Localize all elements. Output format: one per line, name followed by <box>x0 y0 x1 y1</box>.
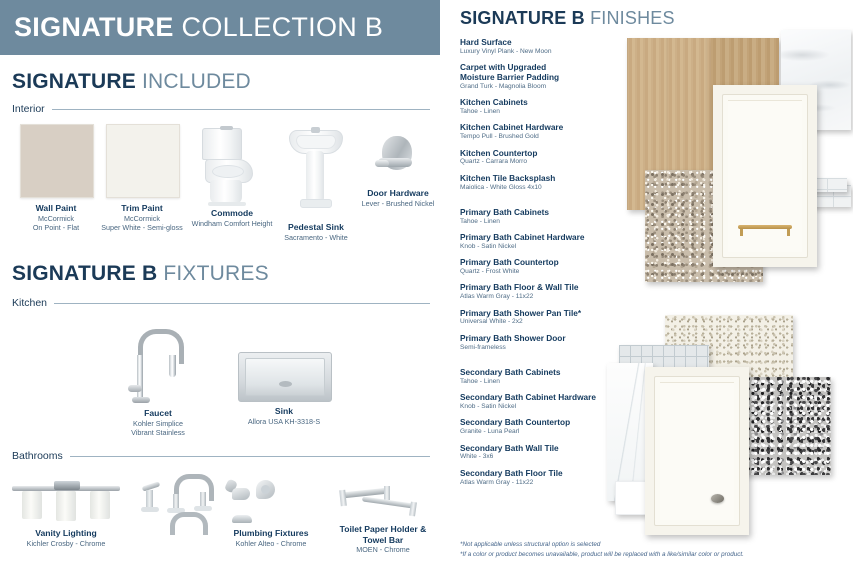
rule-label-bathrooms: Bathrooms <box>12 450 63 462</box>
finish-desc: Knob - Satin Nickel <box>460 243 635 251</box>
fixtures-title-light: FIXTURES <box>163 262 268 285</box>
rule-label-kitchen: Kitchen <box>12 297 47 309</box>
pedestal-sink-image <box>286 130 344 212</box>
rule-interior: Interior <box>12 103 430 115</box>
finish-item: Primary Bath CountertopQuartz - Frost Wh… <box>460 258 635 276</box>
item-name: Faucet <box>110 408 206 419</box>
left-column: SIGNATURE COLLECTION B SIGNATURE INCLUDE… <box>0 0 443 569</box>
section-title-fixtures: SIGNATURE B FIXTURES <box>12 262 269 286</box>
finish-name: Primary Bath Cabinet Hardware <box>460 233 635 243</box>
finish-desc: Grand Turk - Magnolia Bloom <box>460 83 635 91</box>
finish-item: Kitchen CabinetsTahoe - Linen <box>460 98 635 116</box>
item-line1: Lever - Brushed Nickel <box>350 199 446 208</box>
finish-name: Kitchen Cabinet Hardware <box>460 123 635 133</box>
caption-pedestal-sink: Pedestal Sink Sacramento - White <box>268 222 364 242</box>
finish-name: Hard Surface <box>460 38 635 48</box>
included-title-light: INCLUDED <box>142 70 251 93</box>
finish-desc: Atlas Warm Gray - 11x22 <box>460 293 635 301</box>
item-name-2: Towel Bar <box>330 535 436 546</box>
finish-desc: Tahoe - Linen <box>460 108 635 116</box>
caption-towel-bar: Toilet Paper Holder & Towel Bar MOEN - C… <box>330 524 436 554</box>
hero-title-bold: SIGNATURE <box>14 12 174 42</box>
finish-item: Primary Bath Cabinet HardwareKnob - Sati… <box>460 233 635 251</box>
commode-image <box>196 126 266 208</box>
swatch-trim-paint <box>106 124 180 198</box>
caption-faucet: Faucet Kohler Simplice Vibrant Stainless <box>110 408 206 437</box>
caption-plumbing-fixtures: Plumbing Fixtures Kohler Alteo - Chrome <box>216 528 326 548</box>
finish-item: Carpet with UpgradedMoisture Barrier Pad… <box>460 63 635 90</box>
hero-banner: SIGNATURE COLLECTION B <box>0 0 440 55</box>
finishes-title-light: FINISHES <box>590 8 675 28</box>
finish-name: Kitchen Countertop <box>460 149 635 159</box>
hero-title: SIGNATURE COLLECTION B <box>0 12 383 43</box>
finish-name: Kitchen Cabinets <box>460 98 635 108</box>
finish-name: Primary Bath Floor & Wall Tile <box>460 283 635 293</box>
finish-desc: Tahoe - Linen <box>460 218 635 226</box>
item-line1: McCormick <box>10 214 102 223</box>
kitchen-finish-collage <box>615 30 853 315</box>
secondary-finish-collage <box>595 305 845 537</box>
item-name: Wall Paint <box>10 203 102 214</box>
finish-desc: Luxury Vinyl Plank - New Moon <box>460 48 635 56</box>
item-line1: Sacramento - White <box>268 233 364 242</box>
item-name: Commode <box>176 208 288 219</box>
finish-item: Kitchen Cabinet HardwareTempo Pull - Bru… <box>460 123 635 141</box>
kitchen-sink-image <box>238 352 330 404</box>
item-line1: Kichler Crosby - Chrome <box>14 539 118 548</box>
vanity-lighting-image <box>12 478 120 526</box>
item-name: Pedestal Sink <box>268 222 364 233</box>
finish-item: Primary Bath Floor & Wall TileAtlas Warm… <box>460 283 635 301</box>
included-title-bold: SIGNATURE <box>12 70 136 93</box>
item-line1: Kohler Simplice <box>110 419 206 428</box>
finish-item: Hard SurfaceLuxury Vinyl Plank - New Moo… <box>460 38 635 56</box>
finishes-title-bold: SIGNATURE B <box>460 8 585 28</box>
item-name: Door Hardware <box>350 188 446 199</box>
rule-bathrooms: Bathrooms <box>12 450 430 462</box>
section-title-included: SIGNATURE INCLUDED <box>12 70 251 94</box>
finish-name: Kitchen Tile Backsplash <box>460 174 635 184</box>
finish-name: Primary Bath Countertop <box>460 258 635 268</box>
fixtures-title-bold: SIGNATURE B <box>12 262 157 285</box>
secondary-cabinet-door <box>645 367 749 535</box>
finish-name: Primary Bath Cabinets <box>460 208 635 218</box>
item-line1: MOEN - Chrome <box>330 545 436 554</box>
right-column: SIGNATURE B FINISHES Hard SurfaceLuxury … <box>455 0 853 569</box>
collection-board: SIGNATURE COLLECTION B SIGNATURE INCLUDE… <box>0 0 853 569</box>
caption-vanity-lighting: Vanity Lighting Kichler Crosby - Chrome <box>14 528 118 548</box>
finishes-title: SIGNATURE B FINISHES <box>460 8 675 29</box>
finish-desc: Quartz - Frost White <box>460 268 635 276</box>
caption-door-hardware: Door Hardware Lever - Brushed Nickel <box>350 188 446 208</box>
rule-label-interior: Interior <box>12 103 45 115</box>
finish-item: Primary Bath CabinetsTahoe - Linen <box>460 208 635 226</box>
hero-title-light: COLLECTION B <box>182 12 384 42</box>
rule-kitchen: Kitchen <box>12 297 430 309</box>
finish-desc: Tempo Pull - Brushed Gold <box>460 133 635 141</box>
faucet-image <box>128 325 188 405</box>
footnote: *Not applicable unless structural option… <box>460 540 850 549</box>
cabinet-knob-icon <box>711 494 724 503</box>
swatch-secondary-countertop-granite <box>737 377 831 475</box>
finish-desc: Maiolica - White Gloss 4x10 <box>460 184 635 192</box>
item-name: Sink <box>238 406 330 417</box>
finish-desc: Quartz - Carrara Morro <box>460 158 635 166</box>
towel-bar-image <box>336 478 426 522</box>
finish-item: Kitchen CountertopQuartz - Carrara Morro <box>460 149 635 167</box>
footnotes: *Not applicable unless structural option… <box>460 540 850 559</box>
cabinet-pull-icon <box>738 225 792 229</box>
finish-name-2: Moisture Barrier Padding <box>460 73 635 83</box>
item-line2: On Point - Flat <box>10 223 102 232</box>
item-line1: Kohler Alteo - Chrome <box>216 539 326 548</box>
footnote: *If a color or product becomes unavailab… <box>460 550 850 559</box>
finish-item: Kitchen Tile BacksplashMaiolica - White … <box>460 174 635 192</box>
rule-line <box>52 109 430 110</box>
caption-kitchen-sink: Sink Allora USA KH-3318-S <box>238 406 330 426</box>
item-name: Plumbing Fixtures <box>216 528 326 539</box>
rule-line <box>70 456 430 457</box>
kitchen-cabinet-door <box>713 85 817 267</box>
rule-line <box>54 303 430 304</box>
caption-wall-paint: Wall Paint McCormick On Point - Flat <box>10 203 102 232</box>
item-line2: Vibrant Stainless <box>110 428 206 437</box>
swatch-wall-paint <box>20 124 94 198</box>
item-line1: Allora USA KH-3318-S <box>238 417 330 426</box>
plumbing-fixtures-image <box>140 470 290 532</box>
door-hardware-image <box>374 134 420 184</box>
item-name: Vanity Lighting <box>14 528 118 539</box>
item-name: Toilet Paper Holder & <box>330 524 436 535</box>
